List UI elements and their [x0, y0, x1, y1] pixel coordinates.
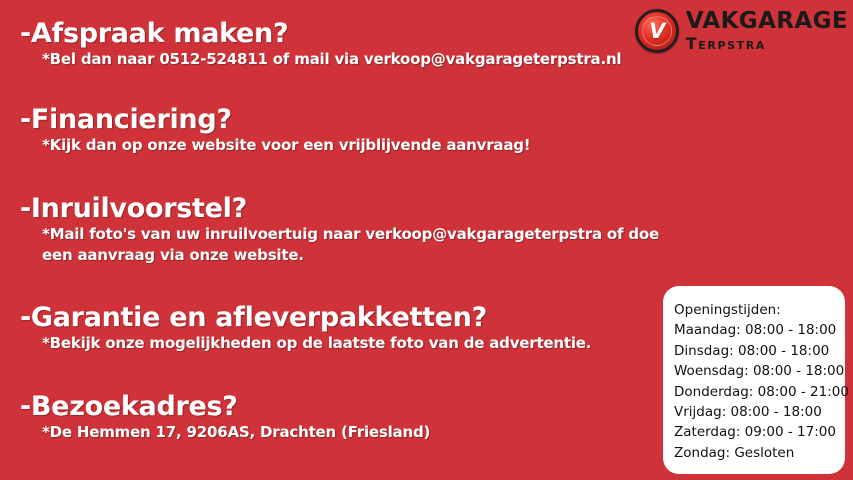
section-line: een aanvraag via onze website.: [42, 245, 659, 266]
section-line: *Mail foto's van uw inruilvoertuig naar …: [42, 224, 659, 245]
logo-brand-text: VAKGARAGE: [686, 10, 848, 33]
logo-wordmark: VAKGARAGE TERPSTRA: [686, 10, 848, 52]
opening-hours-row-zondag: Zondag: Gesloten: [674, 443, 845, 463]
logo-dealer-text: TERPSTRA: [686, 36, 848, 52]
opening-hours-row-donderdag: Donderdag: 08:00 - 21:00: [674, 382, 845, 402]
promo-banner: V VAKGARAGE TERPSTRA -Afspraak maken? *B…: [0, 0, 853, 480]
opening-hours-row-maandag: Maandag: 08:00 - 18:00: [674, 320, 845, 340]
section-line: *Bel dan naar 0512-524811 of mail via ve…: [42, 49, 621, 70]
section-line: *Kijk dan op onze website voor een vrijb…: [42, 135, 530, 156]
opening-hours-card: Openingstijden: Maandag: 08:00 - 18:00 D…: [663, 286, 845, 474]
section-title: -Financiering?: [20, 105, 530, 135]
badge-letter: V: [649, 21, 664, 42]
section-garantie: -Garantie en afleverpakketten? *Bekijk o…: [20, 303, 591, 354]
section-line: *De Hemmen 17, 9206AS, Drachten (Friesla…: [42, 422, 430, 443]
section-bezoekadres: -Bezoekadres? *De Hemmen 17, 9206AS, Dra…: [20, 392, 430, 443]
section-title: -Garantie en afleverpakketten?: [20, 303, 591, 333]
opening-hours-row-vrijdag: Vrijdag: 08:00 - 18:00: [674, 402, 845, 422]
opening-hours-row-woensdag: Woensdag: 08:00 - 18:00: [674, 361, 845, 381]
vakgarage-logo: V VAKGARAGE TERPSTRA: [635, 9, 848, 53]
section-title: -Afspraak maken?: [20, 19, 621, 49]
section-line: *Bekijk onze mogelijkheden op de laatste…: [42, 333, 591, 354]
vakgarage-badge-icon: V: [635, 9, 679, 53]
opening-hours-row-zaterdag: Zaterdag: 09:00 - 17:00: [674, 422, 845, 442]
section-title: -Inruilvoorstel?: [20, 194, 659, 224]
opening-hours-heading: Openingstijden:: [674, 300, 845, 320]
section-title: -Bezoekadres?: [20, 392, 430, 422]
opening-hours-row-dinsdag: Dinsdag: 08:00 - 18:00: [674, 341, 845, 361]
vakgarage-badge-inner: V: [642, 16, 672, 46]
section-financiering: -Financiering? *Kijk dan op onze website…: [20, 105, 530, 156]
section-afspraak: -Afspraak maken? *Bel dan naar 0512-5248…: [20, 19, 621, 70]
section-inruilvoorstel: -Inruilvoorstel? *Mail foto's van uw inr…: [20, 194, 659, 266]
